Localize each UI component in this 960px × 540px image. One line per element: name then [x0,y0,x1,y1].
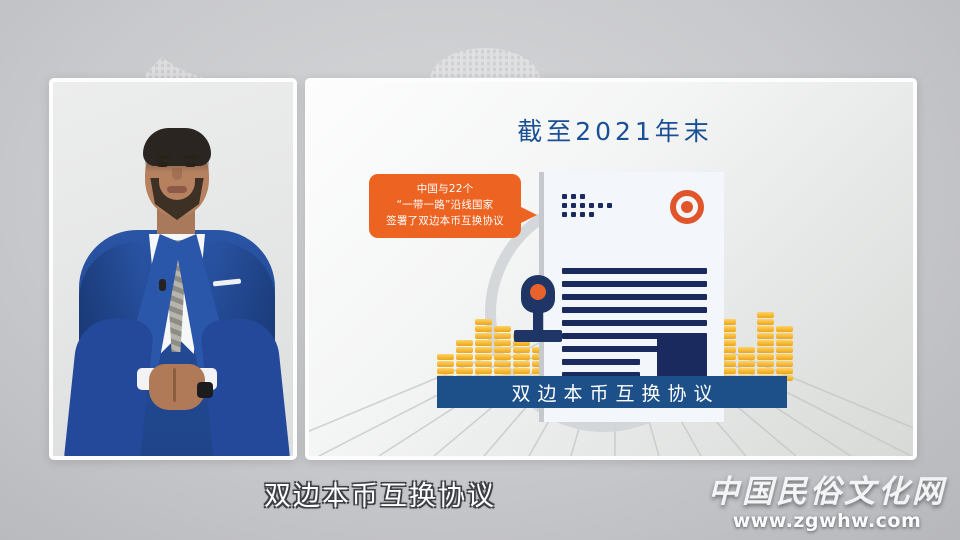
coin [757,319,774,325]
document-dot [562,203,567,208]
coin [757,347,774,353]
background-texture-center [430,48,540,80]
coin [437,354,454,360]
coin [776,368,793,374]
document-line [562,307,707,313]
watermark-site-url: www.zgwhw.com [708,510,946,532]
coin [757,368,774,374]
coin [776,326,793,332]
coin [513,361,530,367]
document-dot [562,194,567,199]
coin [738,361,755,367]
callout-line-2: “一带一路”沿线国家 [375,198,515,214]
document-navy-block [657,334,707,382]
coin [475,347,492,353]
callout-pointer [519,206,537,224]
document-dot [580,203,585,208]
agreement-banner: 双边本币互换协议 [437,376,787,408]
document-line [562,294,707,300]
document-line [562,281,707,287]
eyebrow-right [184,155,198,159]
coin [475,340,492,346]
coin [475,368,492,374]
callout-line-1: 中国与22个 [375,182,515,198]
eyebrow-left [156,155,170,159]
site-watermark: 中国民俗文化网 www.zgwhw.com [708,466,946,532]
watermark-site-name: 中国民俗文化网 [708,466,946,511]
coin-stack [776,326,793,381]
coin [475,319,492,325]
infographic-title: 截至2021年末 [309,112,917,148]
document-dot [571,194,576,199]
coin [757,333,774,339]
coin [513,354,530,360]
coin [738,368,755,374]
callout-line-3: 签署了双边本币互换协议 [375,214,515,230]
document-line-short [562,359,640,365]
coin [776,347,793,353]
coin [475,333,492,339]
document-dot [580,212,585,217]
coin [494,326,511,332]
coin [494,368,511,374]
coin [757,354,774,360]
coin [776,340,793,346]
document-dot [571,203,576,208]
coin [437,368,454,374]
coin [776,354,793,360]
coin-stack [494,326,511,381]
infographic-panel[interactable]: 截至2021年末 中国与22个 “一带一路”沿线国家 签署了双边本币互换协议 [305,78,917,460]
coin [437,361,454,367]
coin-stack [757,312,774,381]
lapel-microphone-icon [159,279,166,291]
document-line [562,320,707,326]
coin [456,340,473,346]
coin [757,312,774,318]
coin [494,347,511,353]
eye-left [157,162,168,167]
coin [738,347,755,353]
coin [738,354,755,360]
coin [456,347,473,353]
coin [757,361,774,367]
target-bullseye-icon [670,190,704,224]
eye-right [185,162,196,167]
coin [776,333,793,339]
coin [757,340,774,346]
coin [757,326,774,332]
video-frame: 截至2021年末 中国与22个 “一带一路”沿线国家 签署了双边本币互换协议 [0,0,960,540]
stamp-orange-dot [530,284,546,300]
orange-callout-box[interactable]: 中国与22个 “一带一路”沿线国家 签署了双边本币互换协议 [369,174,521,238]
coin [494,340,511,346]
document-dot [580,194,585,199]
coin [513,368,530,374]
wristwatch [197,382,213,398]
coin [513,347,530,353]
coin [776,361,793,367]
coin [475,354,492,360]
nose [172,168,182,180]
stamp-head [521,275,555,313]
presenter-video-panel[interactable] [49,78,297,460]
coin [494,361,511,367]
mouth [167,186,187,193]
document-dot [571,212,576,217]
coin [456,368,473,374]
coin-stack [456,340,473,381]
document-line [562,268,707,274]
coin [475,361,492,367]
hands-crease [173,368,176,402]
coin [475,326,492,332]
coin [456,361,473,367]
document-dot [598,203,603,208]
subtitle-caption: 双边本币互换协议 [0,474,760,513]
document-dot [589,203,594,208]
coin-stack [475,319,492,381]
document-dot [562,212,567,217]
document-dot [589,212,594,217]
coin [494,333,511,339]
coin [494,354,511,360]
background-texture-left [128,48,258,82]
coin [456,354,473,360]
document-dot [607,203,612,208]
